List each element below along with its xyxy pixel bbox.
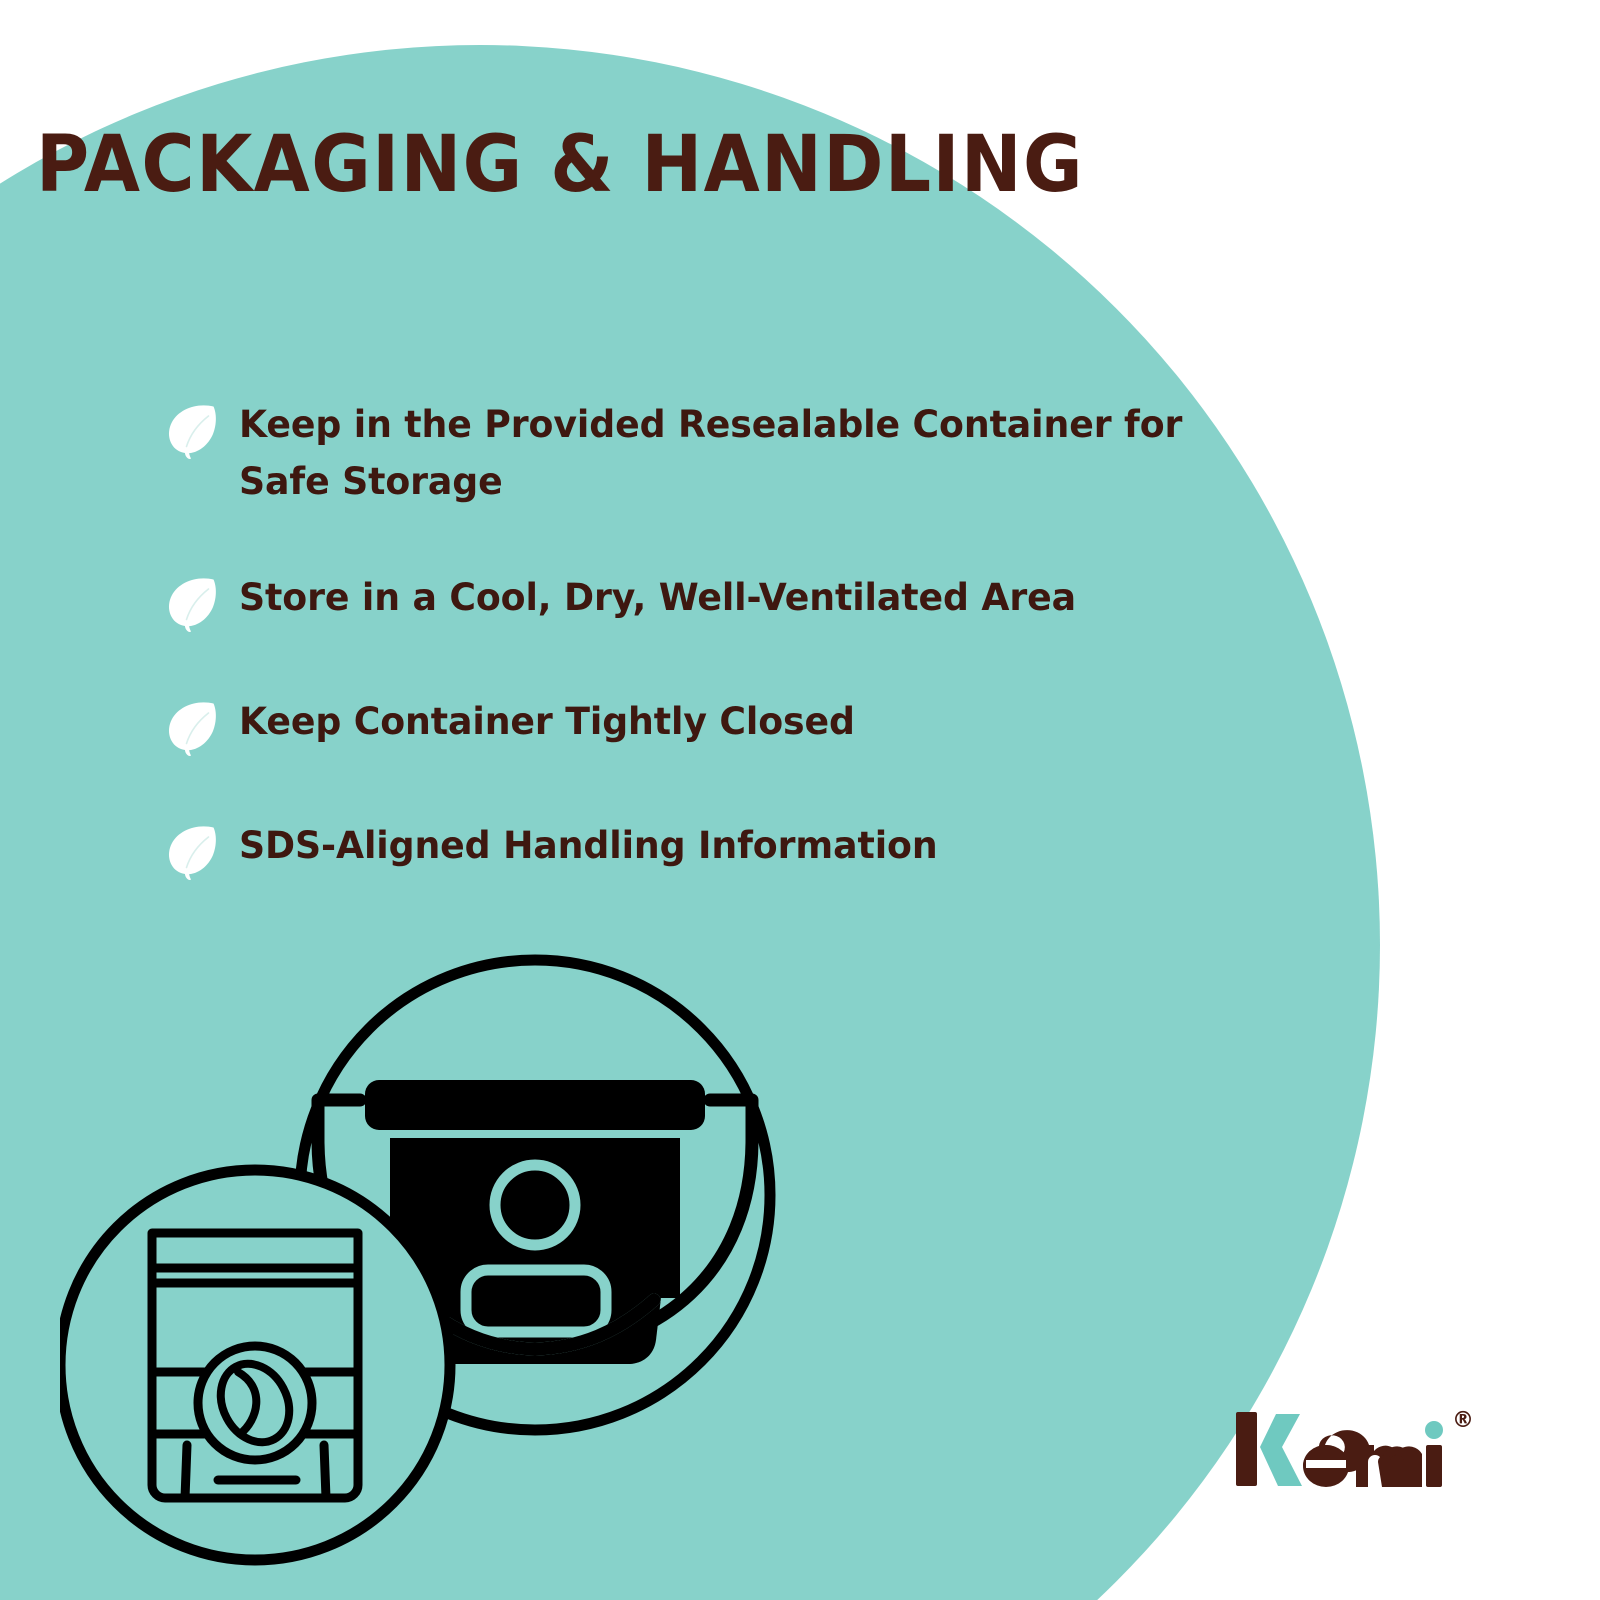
list-item-label: Keep in the Provided Resealable Containe… [239,396,1203,511]
packaging-illustration-group [60,940,820,1600]
list-item: SDS-Aligned Handling Information [163,817,1223,883]
brand-logo: ® [1234,1404,1474,1490]
list-item-label: SDS-Aligned Handling Information [239,817,938,874]
list-item-label: Keep Container Tightly Closed [239,693,855,750]
list-item: Store in a Cool, Dry, Well-Ventilated Ar… [163,569,1223,635]
list-item: Keep in the Provided Resealable Containe… [163,396,1223,511]
page-title: PACKAGING & HANDLING [36,126,1084,204]
list-item: Keep Container Tightly Closed [163,693,1223,759]
kemmie-wordmark [1234,1404,1450,1490]
registered-trademark-mark: ® [1452,1410,1474,1432]
list-item-label: Store in a Cool, Dry, Well-Ventilated Ar… [239,569,1076,626]
coffee-pouch-icon [60,1170,450,1560]
leaf-icon [163,400,219,462]
infographic-canvas: PACKAGING & HANDLING Keep in the Provide… [0,0,1600,1600]
feature-bullet-list: Keep in the Provided Resealable Containe… [163,396,1223,883]
leaf-icon [163,697,219,759]
leaf-icon [163,573,219,635]
leaf-icon [163,821,219,883]
